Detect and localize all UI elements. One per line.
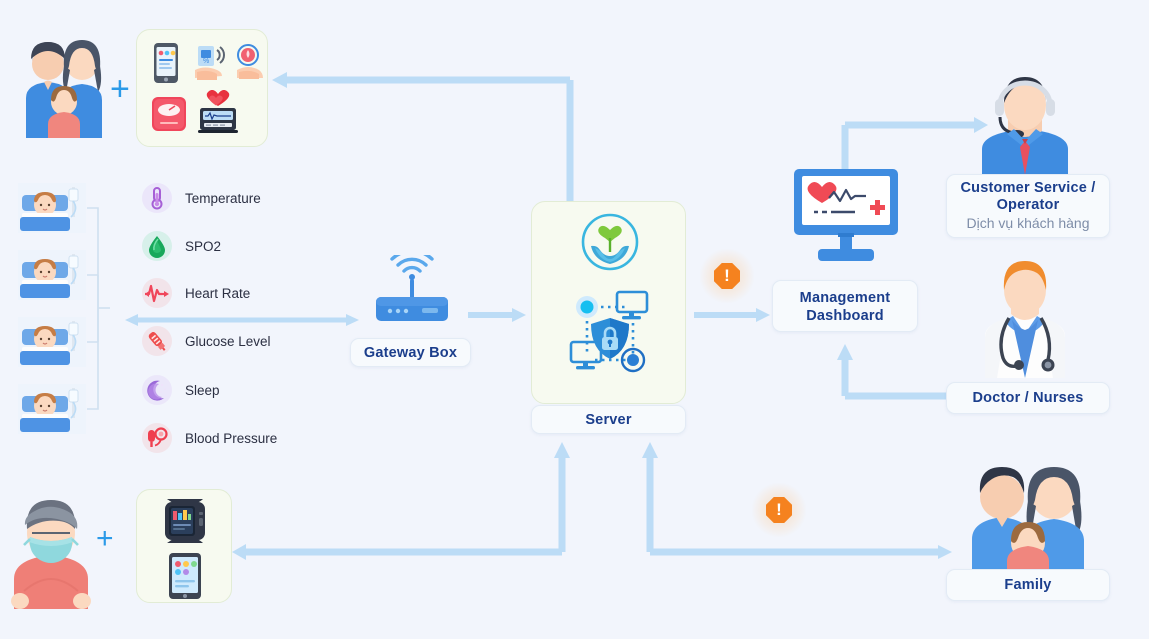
smartphone-icon [168, 552, 202, 605]
arrow-server-to-dashboard [692, 305, 772, 325]
server-box [531, 201, 686, 404]
heart-monitor-icon [790, 167, 902, 267]
plus-icon-bottom: + [96, 524, 114, 554]
diagram-canvas: + % [0, 0, 1149, 639]
doctor-icon [963, 258, 1087, 380]
glucose-meter-icon [142, 326, 172, 356]
arrow-gateway-to-server [466, 305, 528, 325]
plus-icon-top: + [110, 72, 130, 106]
alert-server-to-dashboard: ! [699, 248, 755, 304]
vital-heart-rate: Heart Rate [142, 278, 250, 308]
blood-drop-icon [142, 231, 172, 261]
management-dashboard-label[interactable]: Management Dashboard [772, 280, 918, 332]
family-label-text: Family [1004, 577, 1051, 593]
vital-sleep: Sleep [142, 375, 220, 405]
server-label-text: Server [585, 412, 631, 428]
arrow-server-to-wearables [228, 440, 570, 562]
elderly-masked-person-icon [10, 493, 92, 609]
customer-service-line2: Operator [997, 197, 1060, 214]
thermometer-icon [142, 183, 172, 213]
vital-label: Blood Pressure [185, 431, 277, 446]
ecg-monitor-heart-icon [195, 90, 241, 141]
smartwatch-icon [157, 498, 213, 549]
warning-icon: ! [766, 497, 792, 523]
headset-operator-icon [962, 73, 1088, 183]
doctor-nurses-label-text: Doctor / Nurses [973, 390, 1084, 406]
arrow-doctor-to-dashboard [832, 342, 962, 404]
server-label[interactable]: Server [531, 405, 686, 434]
family-label[interactable]: Family [946, 569, 1110, 601]
wearable-devices-box [136, 489, 232, 603]
patients-bracket [86, 200, 112, 423]
patient-in-bed-icon [18, 183, 86, 238]
gateway-box-label-text: Gateway Box [364, 345, 457, 361]
smartphone-app-icon [153, 42, 179, 89]
warning-icon: ! [714, 263, 740, 289]
server-network-shield-icon [569, 212, 651, 399]
vital-label: Sleep [185, 383, 220, 398]
bp-cuff-icon [142, 423, 172, 453]
customer-service-label[interactable]: Customer Service / Operator Dịch vụ khác… [946, 174, 1110, 238]
wifi-router-icon [362, 255, 462, 333]
vital-label: Heart Rate [185, 286, 250, 301]
patient-in-bed-icon [18, 317, 86, 372]
vital-label: Temperature [185, 191, 261, 206]
contactless-card-reader-icon: % [193, 44, 229, 89]
weight-scale-icon [151, 96, 187, 137]
alert-server-to-family: ! [751, 482, 807, 538]
vital-blood-pressure: Blood Pressure [142, 423, 277, 453]
vital-temperature: Temperature [142, 183, 261, 213]
vital-label: Glucose Level [185, 334, 271, 349]
customer-service-vietnamese: Dịch vụ khách hàng [967, 214, 1090, 232]
heartbeat-line-icon [142, 278, 172, 308]
vital-glucose-level: Glucose Level [142, 326, 271, 356]
svg-text:%: % [203, 58, 209, 65]
family-icon [958, 455, 1098, 573]
home-devices-box: % [136, 29, 268, 147]
dashboard-label-line2: Dashboard [806, 307, 884, 325]
gateway-box-label[interactable]: Gateway Box [350, 338, 471, 367]
customer-service-line1: Customer Service / [961, 180, 1096, 197]
patient-in-bed-icon [18, 384, 86, 439]
moon-stars-icon [142, 375, 172, 405]
vital-spo2: SPO2 [142, 231, 221, 261]
dashboard-label-line1: Management [800, 289, 891, 307]
family-left-illustration [18, 28, 110, 138]
patient-in-bed-icon [18, 250, 86, 305]
vital-label: SPO2 [185, 239, 221, 254]
pulse-sensor-finger-icon [233, 44, 263, 89]
doctor-nurses-label[interactable]: Doctor / Nurses [946, 382, 1110, 414]
